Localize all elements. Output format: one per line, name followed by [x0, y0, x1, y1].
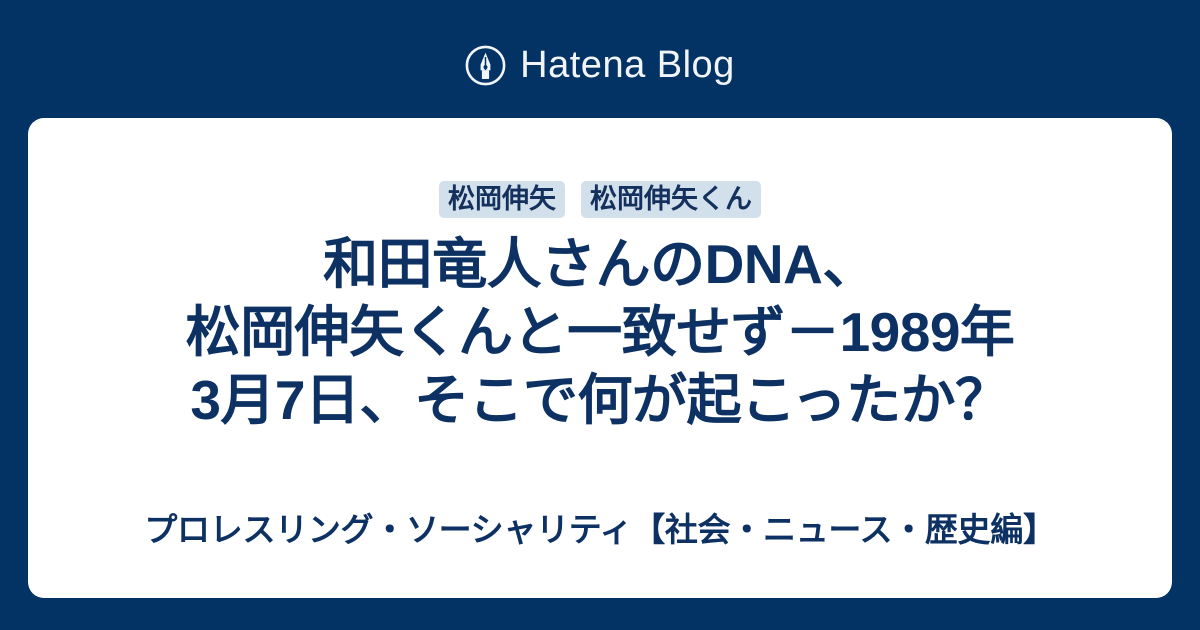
entry-title-line: 和田竜人さんのDNA、 [100, 230, 1100, 298]
tag-item[interactable]: 松岡伸矢くん [581, 181, 761, 218]
hatena-blog-og-card: Hatena Blog 松岡伸矢 松岡伸矢くん 和田竜人さんのDNA、 松岡伸矢… [0, 0, 1200, 630]
entry-card: 松岡伸矢 松岡伸矢くん 和田竜人さんのDNA、 松岡伸矢くんと一致せず－1989… [28, 118, 1172, 598]
entry-title-line: 3月7日、そこで何が起こったか？ [100, 366, 1100, 434]
brand-header: Hatena Blog [0, 38, 1200, 92]
entry-title: 和田竜人さんのDNA、 松岡伸矢くんと一致せず－1989年 3月7日、そこで何が… [100, 230, 1100, 434]
entry-title-line: 松岡伸矢くんと一致せず－1989年 [100, 298, 1100, 366]
hatena-pen-nib-icon [465, 45, 506, 86]
brand-name: Hatena Blog [520, 45, 735, 86]
tag-list: 松岡伸矢 松岡伸矢くん [439, 181, 761, 218]
tag-item[interactable]: 松岡伸矢 [439, 181, 565, 218]
blog-name: プロレスリング・ソーシャリティ【社会・ニュース・歴史編】 [80, 509, 1120, 551]
